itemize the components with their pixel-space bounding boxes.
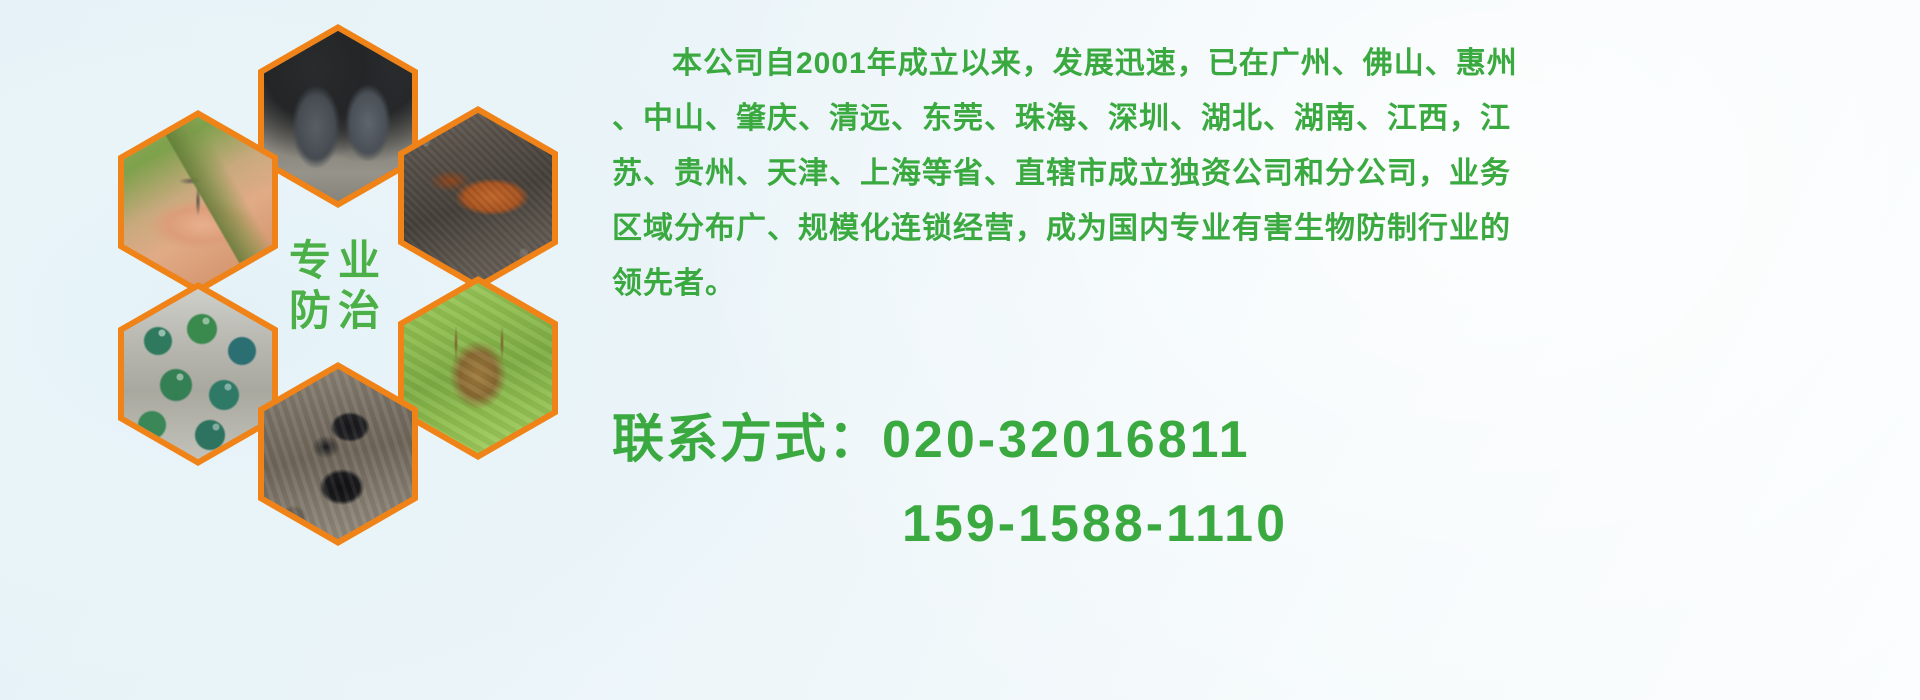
- hex-photo-ants: [258, 362, 418, 546]
- hex-photo-stinkbug: [398, 276, 558, 460]
- phone-primary[interactable]: 020-32016811: [882, 411, 1251, 469]
- phone-secondary[interactable]: 159-1588-1110: [902, 495, 1288, 553]
- hex-photo-rats: [258, 24, 418, 208]
- slogan-text: 专业 防治: [289, 236, 387, 335]
- contact-secondary-line: 159-1588-1110: [612, 482, 1288, 566]
- contact-label: 联系方式：: [612, 411, 882, 469]
- description-line-1: 本公司自2001年成立以来，发展迅速，已在广州、佛山、惠州: [612, 36, 1884, 91]
- description-line-3: 苏、贵州、天津、上海等省、直辖市成立独资公司和分公司，业务: [612, 146, 1884, 201]
- hex-inner-rats: [264, 31, 412, 201]
- hexagon-photo-cluster: 专业 防治: [90, 10, 590, 590]
- hex-photo-flies: [118, 282, 278, 466]
- hex-inner-mosquito: [124, 117, 272, 287]
- hex-inner-cockroach: [404, 113, 552, 283]
- mosquito-photo: [124, 117, 272, 287]
- rats-photo: [264, 31, 412, 201]
- cockroach-photo: [404, 113, 552, 283]
- company-description: 本公司自2001年成立以来，发展迅速，已在广州、佛山、惠州 、中山、肇庆、清远、…: [612, 36, 1884, 311]
- description-line-2: 、中山、肇庆、清远、东莞、珠海、深圳、湖北、湖南、江西，江: [612, 91, 1884, 146]
- description-line-5: 领先者。: [612, 256, 1884, 311]
- contact-primary-line: 联系方式：020-32016811: [612, 398, 1288, 482]
- promo-banner: 专业 防治 本公司自2001年成立以来，发展迅速，已在广州、佛山、惠州 、中山、…: [0, 0, 1920, 700]
- hex-inner-stinkbug: [404, 283, 552, 453]
- stinkbug-photo: [404, 283, 552, 453]
- hex-inner-ants: [264, 369, 412, 539]
- hex-photo-cockroach: [398, 106, 558, 290]
- slogan-line-2: 防治: [289, 286, 387, 336]
- hex-logo-slogan: 专业 防治: [258, 194, 418, 378]
- flies-photo: [124, 289, 272, 459]
- hex-photo-mosquito: [118, 110, 278, 294]
- ants-photo: [264, 369, 412, 539]
- slogan-line-1: 专业: [289, 236, 387, 286]
- description-line-4: 区域分布广、规模化连锁经营，成为国内专业有害生物防制行业的: [612, 201, 1884, 256]
- hex-inner-flies: [124, 289, 272, 459]
- contact-block: 联系方式：020-32016811 159-1588-1110: [612, 398, 1288, 566]
